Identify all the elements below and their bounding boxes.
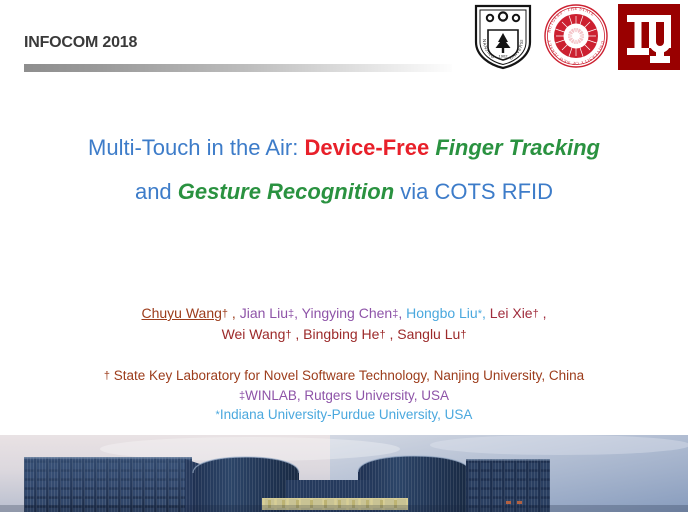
affiliation-text: Indiana University-Purdue University, US… xyxy=(220,407,473,422)
title-line2-part1: and xyxy=(135,179,178,204)
title-line2-part2: Gesture Recognition xyxy=(178,179,394,204)
author-affiliation-mark: † xyxy=(460,329,466,341)
author-name: Lei Xie† xyxy=(490,305,539,321)
title-line2-part3: via COTS RFID xyxy=(394,179,553,204)
affiliation-text: State Key Laboratory for Novel Software … xyxy=(110,368,584,383)
title-line-2: and Gesture Recognition via COTS RFID xyxy=(0,181,688,203)
author-separator: , xyxy=(228,305,240,321)
author-name: Sanglu Lu† xyxy=(397,326,466,342)
affiliation-text: WINLAB, Rutgers University, USA xyxy=(245,388,449,403)
affiliation-mark: ‡ xyxy=(239,390,245,402)
author-list: Chuyu Wang† , Jian Liu‡, Yingying Chen‡,… xyxy=(0,303,688,345)
author-separator: , xyxy=(294,305,302,321)
header-divider-rule xyxy=(24,64,452,72)
author-separator: , xyxy=(539,305,547,321)
paper-title: Multi-Touch in the Air: Device-Free Fing… xyxy=(0,137,688,225)
logo-row: 1902 NANJING UNIVERSITY xyxy=(470,2,682,72)
author-affiliation-mark: † xyxy=(533,308,539,320)
author-name: Wei Wang† xyxy=(222,326,292,342)
conference-header-label: INFOCOM 2018 xyxy=(24,34,137,52)
author-affiliation-mark: ‡ xyxy=(392,308,398,320)
author-affiliation-mark: † xyxy=(379,329,385,341)
title-line1-part2: Device-Free xyxy=(304,135,435,160)
title-line1-part1: Multi-Touch in the Air: xyxy=(88,135,304,160)
author-separator: , xyxy=(292,326,304,342)
author-affiliation-mark: ‡ xyxy=(288,308,294,320)
author-line-2: Wei Wang† , Bingbing He† , Sanglu Lu† xyxy=(0,324,688,345)
author-line-1: Chuyu Wang† , Jian Liu‡, Yingying Chen‡,… xyxy=(0,303,688,324)
author-name: Yingying Chen‡ xyxy=(302,305,399,321)
affiliation-1: † State Key Laboratory for Novel Softwar… xyxy=(0,366,688,386)
title-line1-part3: Finger Tracking xyxy=(435,135,600,160)
affiliation-3: *Indiana University-Purdue University, U… xyxy=(0,405,688,425)
author-separator: , xyxy=(386,326,398,342)
author-affiliation-mark: * xyxy=(478,308,482,320)
author-separator: , xyxy=(482,305,490,321)
svg-text:1902: 1902 xyxy=(499,54,509,59)
nanjing-university-logo: 1902 NANJING UNIVERSITY xyxy=(470,2,536,75)
affiliation-mark: * xyxy=(216,409,220,421)
affiliation-mark: † xyxy=(104,370,110,382)
author-affiliation-mark: † xyxy=(285,329,291,341)
campus-building-photo xyxy=(0,435,688,512)
author-name: Jian Liu‡ xyxy=(240,305,294,321)
author-name: Hongbo Liu* xyxy=(406,305,482,321)
rutgers-university-seal-logo: RUTGERS · THE STATE UNIVERSITY OF NEW JE… xyxy=(542,2,610,75)
title-line-1: Multi-Touch in the Air: Device-Free Fing… xyxy=(0,137,688,159)
author-name: Chuyu Wang† xyxy=(142,305,229,321)
author-affiliation-mark: † xyxy=(222,308,228,320)
author-separator: , xyxy=(398,305,406,321)
presentation-title-slide: INFOCOM 2018 1902 xyxy=(0,0,688,512)
affiliation-list: † State Key Laboratory for Novel Softwar… xyxy=(0,366,688,425)
author-name: Bingbing He† xyxy=(303,326,385,342)
affiliation-2: ‡WINLAB, Rutgers University, USA xyxy=(0,386,688,406)
indiana-university-logo xyxy=(616,2,682,77)
